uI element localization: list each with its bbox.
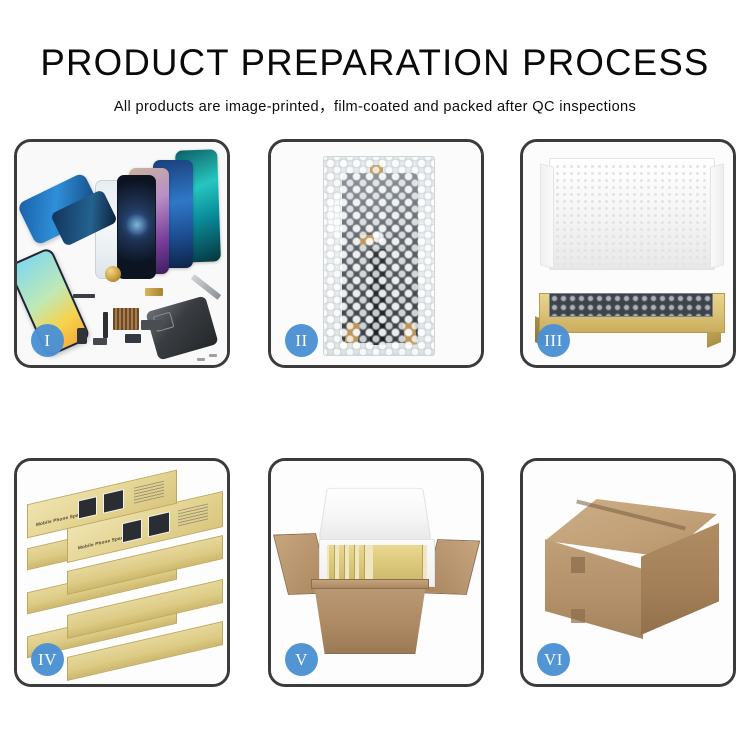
part-chip-grid [113, 308, 139, 330]
foam-texture [554, 163, 710, 265]
page-title: PRODUCT PREPARATION PROCESS [4, 44, 747, 81]
part-gold-connector [145, 288, 163, 296]
process-step-6[interactable]: VI [520, 458, 736, 687]
part-speaker [125, 334, 141, 343]
part-sim-tray [77, 328, 87, 344]
bubble-texture [324, 157, 434, 355]
yellow-box-edge [339, 545, 345, 581]
carton-top-edge [311, 579, 429, 589]
process-row-1: I II [14, 139, 740, 370]
step-badge-6: VI [537, 643, 570, 676]
yellow-box-flat [373, 545, 423, 581]
step-badge-3: III [537, 324, 570, 357]
product-preparation-infographic: PRODUCT PREPARATION PROCESS All products… [0, 0, 750, 750]
eps-foam-lid [319, 488, 432, 540]
process-step-4[interactable]: Mobile Phone Spare Parts Mobile Phone Sp… [14, 458, 230, 687]
page-subtitle: All products are image-printed，film-coat… [0, 95, 750, 116]
step-badge-4: IV [31, 643, 64, 676]
carton-tape-upper [571, 557, 585, 573]
header: PRODUCT PREPARATION PROCESS All products… [0, 0, 750, 116]
part-flex-cable-2 [103, 312, 108, 338]
carton-front-panel [307, 588, 433, 654]
packed-yellow-boxes [327, 545, 427, 581]
part-screw-1 [209, 354, 217, 357]
white-foam-insert [549, 158, 715, 270]
bubble-wrap-bag [323, 156, 435, 356]
tweezers-tool [191, 274, 221, 300]
part-bracket [93, 338, 107, 345]
process-row-2: Mobile Phone Spare Parts Mobile Phone Sp… [14, 458, 740, 689]
yellow-box-edge [329, 545, 335, 581]
process-step-grid: I II [14, 139, 740, 689]
part-vibrator-motor [105, 266, 121, 282]
step-badge-5: V [285, 643, 318, 676]
carton-tape-lower [571, 609, 585, 623]
process-step-3[interactable]: III [520, 139, 736, 368]
part-screw-2 [197, 358, 205, 361]
step-badge-1: I [31, 324, 64, 357]
carton-left-face [545, 539, 643, 639]
process-step-2[interactable]: II [268, 139, 484, 368]
yellow-box-edge [359, 545, 365, 581]
process-step-5[interactable]: V [268, 458, 484, 687]
part-flex-cable-1 [73, 294, 95, 298]
process-step-1[interactable]: I [14, 139, 230, 368]
phone-dark-screen [117, 175, 156, 279]
bubble-wrapped-contents [549, 293, 713, 317]
part-flex-cable-3 [141, 320, 163, 330]
yellow-box-edge [349, 545, 355, 581]
step-badge-2: II [285, 324, 318, 357]
